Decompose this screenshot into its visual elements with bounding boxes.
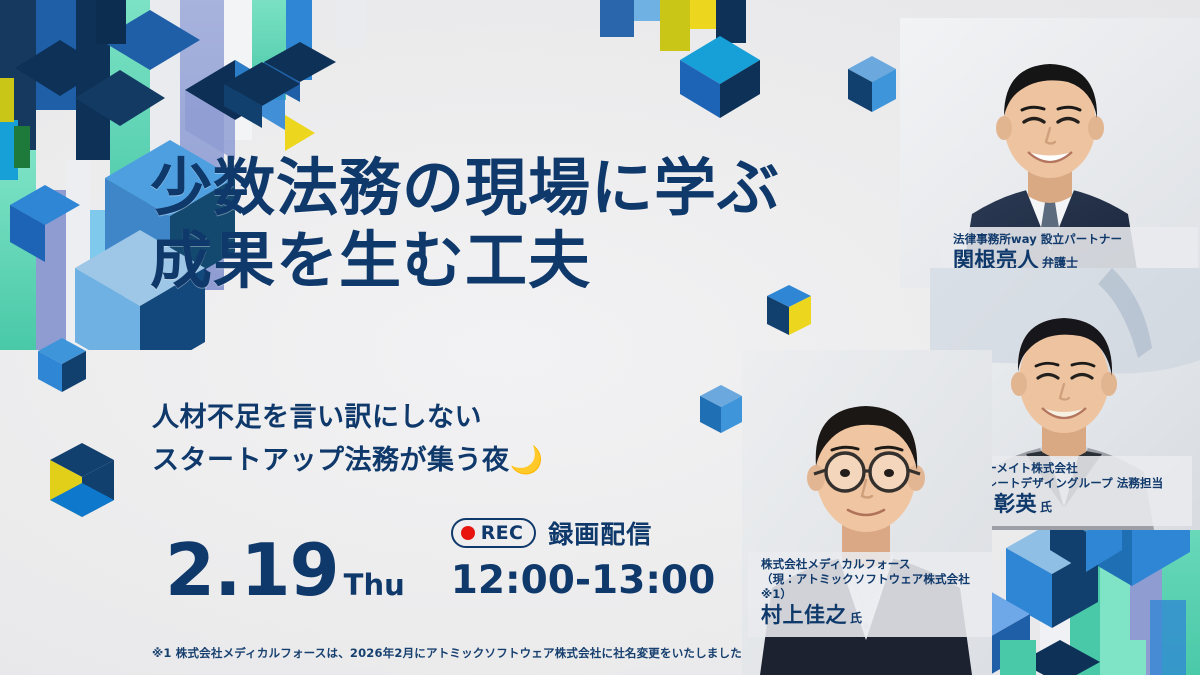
speaker-suffix-2: 氏: [1040, 500, 1052, 514]
speaker-card-1: 法律事務所way 設立パートナー 関根亮人弁護士: [900, 18, 1200, 288]
speaker-suffix-3: 氏: [850, 611, 862, 625]
event-time-block: REC 録画配信 12:00-13:00: [451, 515, 715, 605]
footnote: ※1 株式会社メディカルフォースは、2026年2月にアトミックソフトウェア株式会…: [152, 645, 754, 661]
record-dot-icon: [461, 526, 475, 540]
rec-badge: REC: [451, 518, 536, 548]
recording-label: 録画配信: [548, 515, 652, 551]
crescent-moon-icon: 🌙: [510, 445, 544, 476]
page-title: 少数法務の現場に学ぶ 成果を生む工夫: [150, 152, 780, 297]
event-day-of-week: Thu: [344, 568, 405, 602]
speaker-name-row-3: 村上佳之氏: [761, 602, 989, 630]
webinar-banner: 少数法務の現場に学ぶ 成果を生む工夫 人材不足を言い訳にしない スタートアップ法…: [0, 0, 1200, 675]
speaker-nameplate-3: 株式会社メディカルフォース （現：アトミックソフトウェア株式会社 ※1） 村上佳…: [748, 552, 992, 637]
speaker-org-1: 法律事務所way 設立パートナー: [953, 232, 1185, 247]
page-subtitle: 人材不足を言い訳にしない スタートアップ法務が集う夜🌙: [152, 352, 544, 483]
schedule-block: 2.19 Thu REC 録画配信 12:00-13:00: [165, 515, 715, 605]
event-date-number: 2.19: [165, 536, 339, 605]
speaker-card-3: 株式会社メディカルフォース （現：アトミックソフトウェア株式会社 ※1） 村上佳…: [742, 350, 992, 675]
event-time: 12:00-13:00: [451, 558, 715, 603]
rec-badge-label: REC: [481, 522, 523, 544]
event-date: 2.19 Thu: [165, 536, 405, 605]
recording-row: REC 録画配信: [451, 515, 715, 551]
speaker-name-3: 村上佳之: [761, 603, 847, 627]
subtitle-text: 人材不足を言い訳にしない スタートアップ法務が集う夜: [152, 402, 510, 477]
speaker-org-3: 株式会社メディカルフォース （現：アトミックソフトウェア株式会社 ※1）: [761, 557, 989, 603]
